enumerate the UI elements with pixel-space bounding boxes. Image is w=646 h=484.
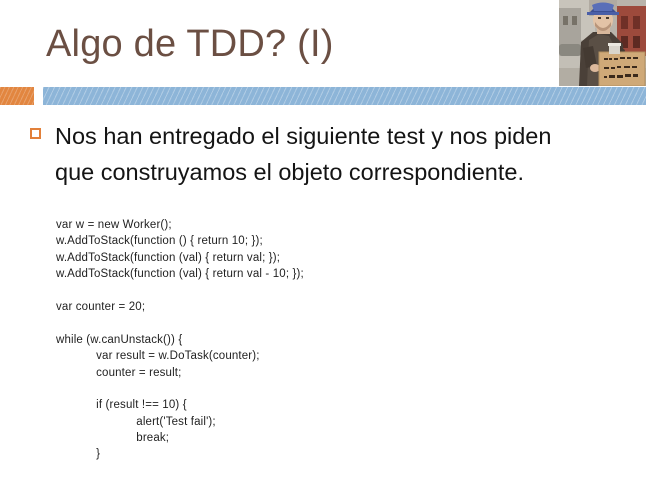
square-bullet-icon	[30, 128, 41, 139]
code-line: var counter = 20;	[56, 299, 636, 315]
code-block: var w = new Worker();w.AddToStack(functi…	[56, 217, 636, 463]
divider-accent-square	[0, 87, 34, 105]
code-line: var result = w.DoTask(counter);	[56, 348, 636, 364]
code-line	[56, 315, 636, 331]
corner-photo	[559, 0, 646, 86]
bullet-item-label: Nos han entregado el siguiente test y no…	[55, 118, 590, 190]
code-line	[56, 283, 636, 299]
list-item: Nos han entregado el siguiente test y no…	[30, 118, 590, 190]
page-title: Algo de TDD? (I)	[46, 22, 334, 66]
code-line	[56, 381, 636, 397]
code-line: }	[56, 446, 636, 462]
slide-canvas: Algo de TDD? (I)	[0, 0, 646, 484]
code-line: var w = new Worker();	[56, 217, 636, 233]
title-divider	[0, 87, 646, 105]
photo-image	[559, 0, 646, 86]
bullet-list: Nos han entregado el siguiente test y no…	[30, 118, 590, 190]
code-line: counter = result;	[56, 365, 636, 381]
divider-accent-bar	[43, 87, 646, 105]
code-line: if (result !== 10) {	[56, 397, 636, 413]
code-line: w.AddToStack(function (val) { return val…	[56, 250, 636, 266]
code-line: w.AddToStack(function (val) { return val…	[56, 266, 636, 282]
code-line: while (w.canUnstack()) {	[56, 332, 636, 348]
code-line: break;	[56, 430, 636, 446]
code-line: w.AddToStack(function () { return 10; })…	[56, 233, 636, 249]
code-line: alert('Test fail');	[56, 414, 636, 430]
